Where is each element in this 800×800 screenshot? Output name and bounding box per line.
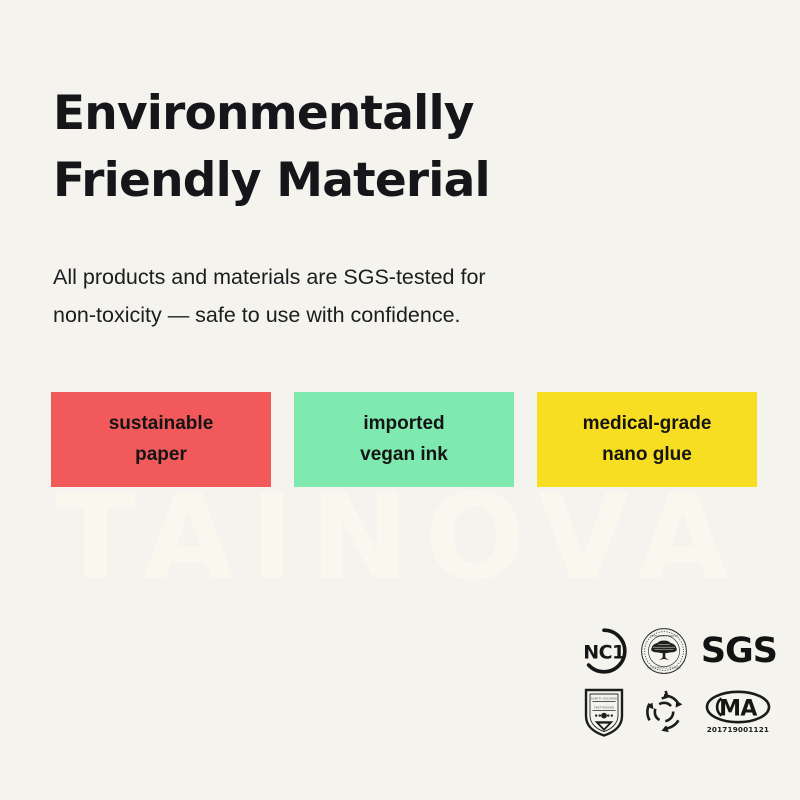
material-chip-sustainable-paper: sustainable paper xyxy=(51,392,271,487)
page-title-line-2: Friendly Material xyxy=(53,148,713,215)
page-title-line-1: Environmentally xyxy=(53,81,713,148)
svg-text:CERTIFIED FOREST: CERTIFIED FOREST xyxy=(650,634,678,638)
certification-badge-grid: NC1 xyxy=(576,622,772,742)
sgs-wordmark: SGS xyxy=(701,634,777,669)
svg-text:TEST PASSED: TEST PASSED xyxy=(593,705,615,709)
chip-label-line-1: imported xyxy=(363,409,444,440)
svg-text:SUSTAINABLE SOURCE: SUSTAINABLE SOURCE xyxy=(647,665,681,669)
poster-canvas: TAINOVA Environmentally Friendly Materia… xyxy=(0,0,800,800)
page-title: Environmentally Friendly Material xyxy=(53,81,713,214)
page-subtitle: All products and materials are SGS-teste… xyxy=(53,258,673,335)
material-chip-imported-vegan-ink: imported vegan ink xyxy=(294,392,514,487)
chip-label-line-2: vegan ink xyxy=(360,440,448,471)
recycling-arrows-icon xyxy=(636,682,692,742)
shield-certification-icon: SAFETY ASSURED TEST PASSED xyxy=(576,682,632,742)
cma-certificate-number: 201719001121 xyxy=(707,725,769,734)
chip-label-line-2: nano glue xyxy=(602,440,692,471)
material-chip-medical-grade-nano-glue: medical-grade nano glue xyxy=(537,392,757,487)
nc1-certification-icon: NC1 xyxy=(576,622,632,680)
material-chip-row: sustainable paper imported vegan ink med… xyxy=(51,392,757,487)
cma-certification-icon: MA 201719001121 xyxy=(696,682,772,742)
svg-text:MA: MA xyxy=(719,696,757,721)
svg-text:NC1: NC1 xyxy=(583,642,625,664)
page-subtitle-line-2: non-toxicity — safe to use with confiden… xyxy=(53,296,673,334)
chip-label-line-2: paper xyxy=(135,440,187,471)
forest-tree-seal-icon: CERTIFIED FOREST SUSTAINABLE SOURCE xyxy=(636,622,692,680)
page-subtitle-line-1: All products and materials are SGS-teste… xyxy=(53,258,673,296)
brand-watermark: TAINOVA xyxy=(0,478,800,596)
chip-label-line-1: medical-grade xyxy=(583,409,712,440)
svg-text:SAFETY ASSURED: SAFETY ASSURED xyxy=(591,697,618,701)
chip-label-line-1: sustainable xyxy=(109,409,214,440)
sgs-certification-icon: SGS xyxy=(696,622,772,680)
